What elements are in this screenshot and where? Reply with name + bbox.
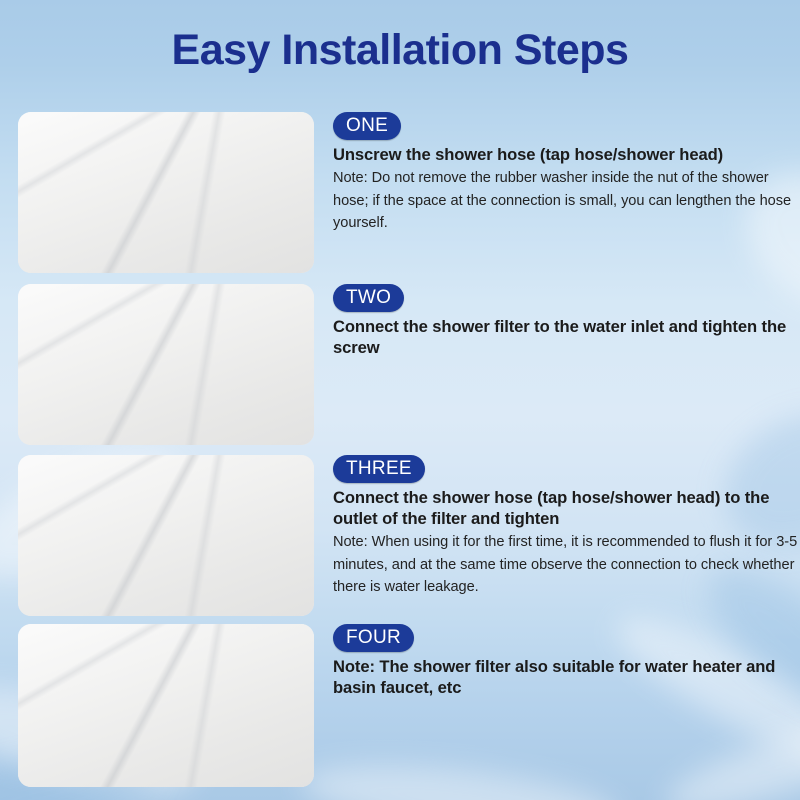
installation-steps-page: Easy Installation Steps: [0, 0, 800, 800]
step-image-two: SPA: [18, 284, 314, 445]
step-headline-one: Unscrew the shower hose (tap hose/shower…: [333, 144, 800, 165]
step-badge-one: ONE: [333, 112, 401, 140]
step-image-four: filter: [18, 624, 314, 787]
step-copy-three: THREE Connect the shower hose (tap hose/…: [333, 455, 800, 599]
step-note-three: Note: When using it for the first time, …: [333, 531, 800, 599]
step-copy-four: FOUR Note: The shower filter also suitab…: [333, 624, 800, 698]
step-headline-three: Connect the shower hose (tap hose/shower…: [333, 487, 800, 529]
marble-wall-background: [18, 455, 314, 616]
page-title: Easy Installation Steps: [0, 28, 800, 73]
step-headline-two: Connect the shower filter to the water i…: [333, 316, 800, 358]
marble-wall-background: [18, 624, 314, 787]
step-image-three: [18, 455, 314, 616]
step-copy-one: ONE Unscrew the shower hose (tap hose/sh…: [333, 112, 800, 235]
marble-wall-background: [18, 284, 314, 445]
step-badge-four: FOUR: [333, 624, 414, 652]
step-image-one: [18, 112, 314, 273]
step-badge-two: TWO: [333, 284, 404, 312]
step-note-one: Note: Do not remove the rubber washer in…: [333, 167, 800, 235]
step-copy-two: TWO Connect the shower filter to the wat…: [333, 284, 800, 358]
step-headline-four: Note: The shower filter also suitable fo…: [333, 656, 800, 698]
step-badge-three: THREE: [333, 455, 425, 483]
marble-wall-background: [18, 112, 314, 273]
